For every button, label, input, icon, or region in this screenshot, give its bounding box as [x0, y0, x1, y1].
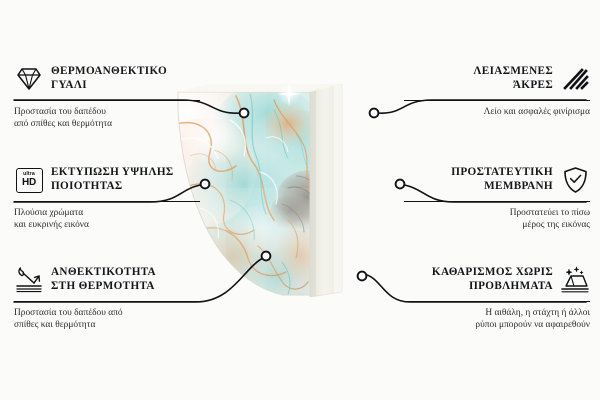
feature-item-easy-cleaning: ΚΑΘΑΡΙΣΜΟΣ ΧΩΡΙΣ ΠΡΟΒΛΗΜΑΤΑ Η αιθάλη, η … — [404, 263, 590, 331]
feature-title: ΛΕΙΑΣΜΕΝΕΣ ΆΚΡΕΣ — [473, 65, 553, 92]
feature-item-heat-resistance: ΑΝΘΕΚΤΙΚΟΤΗΤΑ ΣΤΗ ΘΕΡΜΟΤΗΤΑ Προστασία το… — [14, 263, 200, 331]
feature-divider — [14, 301, 200, 302]
shield-check-icon — [560, 165, 590, 195]
feature-description: Προστασία του δαπέδου από σπίθες και θερ… — [14, 307, 200, 331]
feature-divider — [14, 201, 200, 202]
feature-header: ΘΕΡΜΟΑΝΘΕΚΤΙΚΟ ΓΥΑΛΙ — [14, 62, 200, 96]
feature-title: ΘΕΡΜΟΑΝΘΕΚΤΙΚΟ ΓΥΑΛΙ — [51, 65, 167, 92]
feature-description: Προστασία του δαπέδου από σπίθες και θερ… — [14, 106, 200, 130]
easy-cleaning-icon — [560, 265, 590, 295]
feature-item-protective-membrane: ΠΡΟΣΤΑΤΕΥΤΙΚΗ ΜΕΜΒΡΑΝΗ Προστατεύει το πί… — [404, 163, 590, 231]
feature-title: ΕΚΤΥΠΩΣΗ ΥΨΗΛΗΣ ΠΟΙΟΤΗΤΑΣ — [51, 166, 174, 193]
feature-header: ΠΡΟΣΤΑΤΕΥΤΙΚΗ ΜΕΜΒΡΑΝΗ — [404, 163, 590, 197]
feature-description: Πλούσια χρώματα και ευκρινής εικόνα — [14, 207, 200, 231]
feature-header: ΑΝΘΕΚΤΙΚΟΤΗΤΑ ΣΤΗ ΘΕΡΜΟΤΗΤΑ — [14, 263, 200, 297]
feature-divider — [404, 301, 590, 302]
feature-title: ΚΑΘΑΡΙΣΜΟΣ ΧΩΡΙΣ ΠΡΟΒΛΗΜΑΤΑ — [432, 266, 553, 293]
feature-header: ΚΑΘΑΡΙΣΜΟΣ ΧΩΡΙΣ ΠΡΟΒΛΗΜΑΤΑ — [404, 263, 590, 297]
feature-divider — [404, 100, 590, 101]
feature-title: ΠΡΟΣΤΑΤΕΥΤΙΚΗ ΜΕΜΒΡΑΝΗ — [451, 166, 553, 193]
panel-back-slab — [310, 84, 342, 297]
polished-edges-icon — [560, 64, 590, 94]
diamond-icon — [14, 64, 44, 94]
product-image — [170, 80, 420, 325]
feature-item-polished-edges: ΛΕΙΑΣΜΕΝΕΣ ΆΚΡΕΣ Λείο και ασφαλές φινίρι… — [404, 62, 590, 118]
sparkle-glint-icon — [277, 82, 301, 106]
feature-header: ultra HD ΕΚΤΥΠΩΣΗ ΥΨΗΛΗΣ ΠΟΙΟΤΗΤΑΣ — [14, 163, 200, 197]
feature-item-heat-resistant-glass: ΘΕΡΜΟΑΝΘΕΚΤΙΚΟ ΓΥΑΛΙ Προστασία του δαπέδ… — [14, 62, 200, 130]
feature-description: Λείο και ασφαλές φινίρισμα — [404, 106, 590, 118]
ultra-hd-icon: ultra HD — [14, 165, 44, 195]
feature-divider — [404, 201, 590, 202]
feature-divider — [14, 100, 200, 101]
feature-item-high-quality-print: ultra HD ΕΚΤΥΠΩΣΗ ΥΨΗΛΗΣ ΠΟΙΟΤΗΤΑΣ Πλούσ… — [14, 163, 200, 231]
feature-title: ΑΝΘΕΚΤΙΚΟΤΗΤΑ ΣΤΗ ΘΕΡΜΟΤΗΤΑ — [51, 266, 156, 293]
feature-header: ΛΕΙΑΣΜΕΝΕΣ ΆΚΡΕΣ — [404, 62, 590, 96]
feature-description: Η αιθάλη, η στάχτη ή άλλοι ρύποι μπορούν… — [404, 307, 590, 331]
ultra-hd-icon-label-big: HD — [22, 178, 36, 188]
product-image-svg — [170, 80, 420, 325]
feature-description: Προστατεύει το πίσω μέρος της εικόνας — [404, 207, 590, 231]
heat-resistance-icon — [14, 265, 44, 295]
product-feature-infographic: ΘΕΡΜΟΑΝΘΕΚΤΙΚΟ ΓΥΑΛΙ Προστασία του δαπέδ… — [0, 0, 600, 400]
